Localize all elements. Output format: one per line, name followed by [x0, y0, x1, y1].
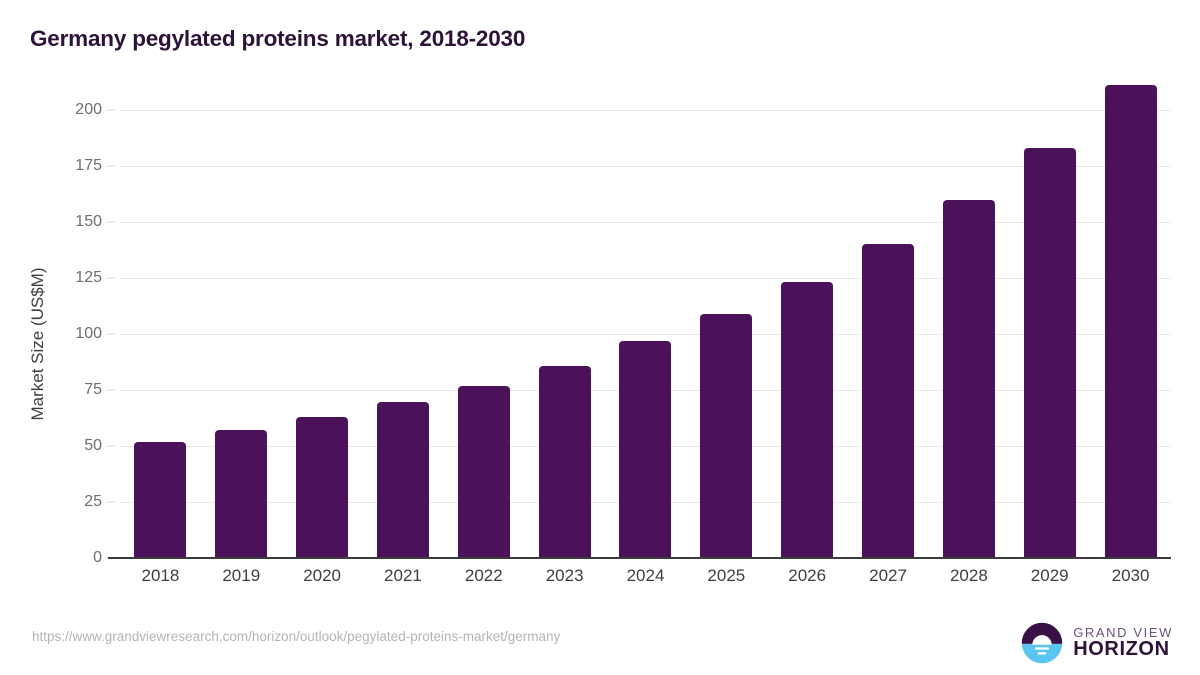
y-axis-tick-mark	[107, 334, 116, 335]
y-axis-tick-label: 175	[75, 157, 102, 175]
page-title: Germany pegylated proteins market, 2018-…	[30, 26, 525, 52]
horizon-circle-icon	[1020, 621, 1064, 665]
x-axis-tick-label: 2027	[869, 566, 907, 586]
bar-slot	[201, 110, 282, 558]
y-axis-tick-mark	[107, 278, 116, 279]
bar-2030[interactable]	[1105, 85, 1157, 558]
bar-slot	[282, 110, 363, 558]
y-axis-tick-mark	[107, 222, 116, 223]
x-axis-tick-label: 2019	[222, 566, 260, 586]
bar-2027[interactable]	[862, 244, 914, 558]
bar-2022[interactable]	[458, 386, 510, 558]
bar-2029[interactable]	[1024, 148, 1076, 558]
x-axis-tick-label: 2030	[1112, 566, 1150, 586]
bar-2020[interactable]	[296, 417, 348, 558]
x-axis-tick-label: 2018	[142, 566, 180, 586]
bar-slot	[1090, 110, 1171, 558]
bar-2019[interactable]	[215, 430, 267, 558]
plot-area	[120, 110, 1171, 558]
bar-2026[interactable]	[781, 282, 833, 558]
bar-slot	[928, 110, 1009, 558]
y-axis-tick-labels: 0255075100125150175200	[0, 110, 120, 558]
bar-2025[interactable]	[700, 314, 752, 558]
y-axis-tick-mark	[107, 390, 116, 391]
y-axis-tick-mark	[107, 502, 116, 503]
bar-2021[interactable]	[377, 402, 429, 558]
y-axis-tick-label: 125	[75, 269, 102, 287]
bar-2028[interactable]	[943, 200, 995, 558]
x-axis-tick-label: 2025	[707, 566, 745, 586]
bar-2023[interactable]	[539, 366, 591, 558]
x-axis-tick-label: 2020	[303, 566, 341, 586]
x-axis-tick-label: 2029	[1031, 566, 1069, 586]
bar-2018[interactable]	[134, 442, 186, 558]
y-axis-tick-label: 200	[75, 101, 102, 119]
y-axis-tick-mark	[107, 446, 116, 447]
logo-line-1: GRAND VIEW	[1073, 626, 1173, 640]
bar-slot	[767, 110, 848, 558]
y-axis-tick-label: 100	[75, 325, 102, 343]
x-axis-tick-label: 2022	[465, 566, 503, 586]
source-url[interactable]: https://www.grandviewresearch.com/horizo…	[32, 629, 560, 644]
bar-2024[interactable]	[619, 341, 671, 558]
x-axis-tick-labels: 2018201920202021202220232024202520262027…	[120, 566, 1171, 596]
y-axis-tick-label: 50	[84, 437, 102, 455]
bar-series	[120, 110, 1171, 558]
x-axis-tick-label: 2021	[384, 566, 422, 586]
chart-page: Germany pegylated proteins market, 2018-…	[0, 0, 1200, 675]
x-axis-tick-label: 2026	[788, 566, 826, 586]
bar-slot	[524, 110, 605, 558]
y-axis-tick-mark	[107, 166, 116, 167]
bar-slot	[848, 110, 929, 558]
x-axis-tick-label: 2028	[950, 566, 988, 586]
x-axis-line	[108, 557, 1171, 559]
bar-slot	[120, 110, 201, 558]
bar-slot	[686, 110, 767, 558]
y-axis-tick-label: 150	[75, 213, 102, 231]
bar-slot	[363, 110, 444, 558]
y-axis-tick-label: 25	[84, 493, 102, 511]
logo-wordmark: GRAND VIEW HORIZON	[1073, 626, 1173, 661]
x-axis-tick-label: 2023	[546, 566, 584, 586]
brand-logo[interactable]: GRAND VIEW HORIZON	[1020, 621, 1173, 665]
y-axis-tick-mark	[107, 110, 116, 111]
x-axis-tick-label: 2024	[627, 566, 665, 586]
y-axis-tick-label: 0	[93, 549, 102, 567]
bar-slot	[605, 110, 686, 558]
bar-slot	[1009, 110, 1090, 558]
logo-line-2: HORIZON	[1073, 639, 1173, 660]
y-axis-tick-label: 75	[84, 381, 102, 399]
bar-slot	[443, 110, 524, 558]
